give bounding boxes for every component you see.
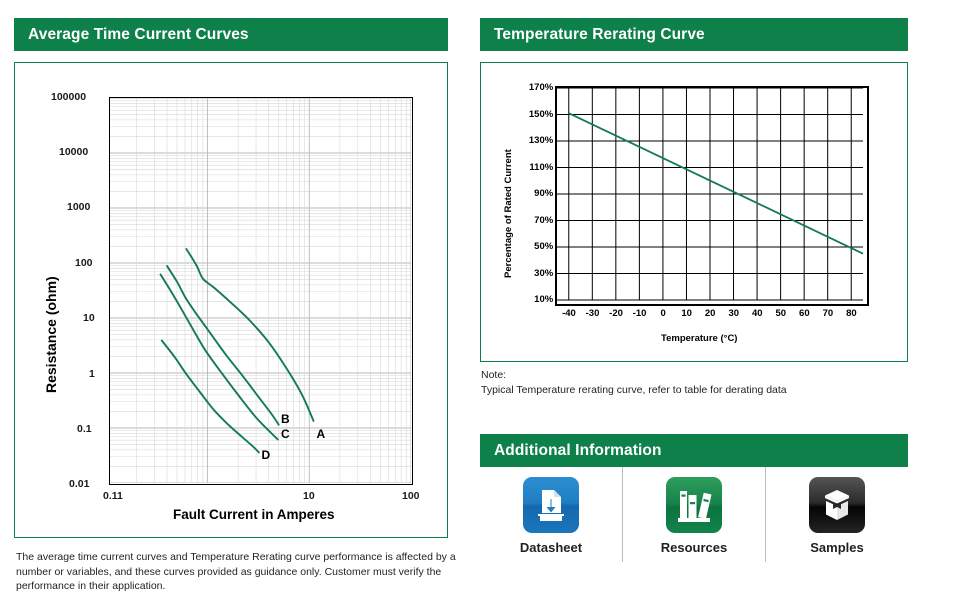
temperature-x-tick-10: 10 bbox=[675, 308, 699, 319]
y-tick-label-1: 1 bbox=[89, 368, 95, 380]
temperature-y-tick-30%: 30% bbox=[521, 268, 553, 279]
note-heading: Note: bbox=[481, 368, 911, 383]
temperature-note: Note: Typical Temperature rerating curve… bbox=[481, 368, 911, 397]
temperature-chart-box: Percentage of Rated Current 10%30%50%70%… bbox=[480, 62, 908, 362]
datasheet-link[interactable]: Datasheet bbox=[480, 467, 622, 562]
temperature-x-tick-0: 0 bbox=[651, 308, 675, 319]
datasheet-page: Average Time Current Curves Resistance (… bbox=[0, 0, 963, 594]
y-tick-label-10: 10 bbox=[83, 312, 95, 324]
time-current-chart-box: Resistance (ohm) 100000 10000 1000 100 1… bbox=[14, 62, 448, 538]
temperature-x-tick--40: -40 bbox=[557, 308, 581, 319]
additional-information-title: Additional Information bbox=[494, 442, 662, 460]
time-current-x-axis-title: Fault Current in Amperes bbox=[173, 507, 335, 522]
temperature-x-tick-30: 30 bbox=[722, 308, 746, 319]
curve-label-b: B bbox=[281, 412, 290, 426]
temperature-x-tick-80: 80 bbox=[839, 308, 863, 319]
resources-label: Resources bbox=[661, 540, 727, 555]
y-tick-label-100000: 100000 bbox=[51, 91, 86, 103]
curve-label-d: D bbox=[262, 448, 271, 462]
time-current-plot-area bbox=[109, 97, 413, 485]
temperature-x-tick-20: 20 bbox=[698, 308, 722, 319]
document-download-icon[interactable] bbox=[523, 477, 579, 533]
open-box-icon[interactable] bbox=[809, 477, 865, 533]
x-tick-label-0.11: 0.11 bbox=[103, 490, 123, 502]
time-current-y-axis-title: Resistance (ohm) bbox=[43, 276, 59, 393]
temperature-x-tick--10: -10 bbox=[628, 308, 652, 319]
additional-information-panel: Additional Information bbox=[480, 434, 908, 467]
temperature-x-axis-title: Temperature (°C) bbox=[661, 333, 737, 344]
disclaimer-text: The average time current curves and Temp… bbox=[16, 550, 456, 594]
temperature-y-tick-130%: 130% bbox=[521, 135, 553, 146]
temperature-x-tick-60: 60 bbox=[792, 308, 816, 319]
resources-link[interactable]: Resources bbox=[622, 467, 765, 562]
time-current-panel: Average Time Current Curves bbox=[14, 18, 448, 51]
temperature-panel-header: Temperature Rerating Curve bbox=[480, 18, 908, 51]
temperature-y-tick-70%: 70% bbox=[521, 215, 553, 226]
temperature-y-tick-150%: 150% bbox=[521, 109, 553, 120]
temperature-y-tick-110%: 110% bbox=[521, 162, 553, 173]
temperature-y-axis-title: Percentage of Rated Current bbox=[503, 149, 514, 278]
samples-label: Samples bbox=[810, 540, 863, 555]
x-tick-label-10: 10 bbox=[303, 490, 315, 502]
temperature-y-tick-50%: 50% bbox=[521, 241, 553, 252]
additional-information-links: Datasheet Resources bbox=[480, 467, 908, 572]
major-grid bbox=[557, 88, 863, 300]
temperature-plot-svg bbox=[557, 88, 867, 304]
datasheet-label: Datasheet bbox=[520, 540, 582, 555]
temperature-plot-area bbox=[555, 86, 869, 306]
temperature-panel-title: Temperature Rerating Curve bbox=[494, 26, 705, 44]
temperature-panel: Temperature Rerating Curve bbox=[480, 18, 908, 51]
y-tick-label-0.01: 0.01 bbox=[69, 478, 89, 490]
temperature-y-tick-10%: 10% bbox=[521, 294, 553, 305]
books-icon[interactable] bbox=[666, 477, 722, 533]
y-tick-label-1000: 1000 bbox=[67, 201, 90, 213]
temperature-x-tick-50: 50 bbox=[769, 308, 793, 319]
time-current-panel-title: Average Time Current Curves bbox=[28, 26, 249, 44]
note-body: Typical Temperature rerating curve, refe… bbox=[481, 383, 911, 398]
curve-label-c: C bbox=[281, 427, 290, 441]
x-tick-label-100: 100 bbox=[402, 490, 420, 502]
temperature-x-tick--30: -30 bbox=[581, 308, 605, 319]
temperature-x-tick-70: 70 bbox=[816, 308, 840, 319]
temperature-x-tick--20: -20 bbox=[604, 308, 628, 319]
temperature-y-tick-170%: 170% bbox=[521, 82, 553, 93]
time-current-plot-svg bbox=[110, 98, 411, 483]
samples-link[interactable]: Samples bbox=[765, 467, 908, 562]
temperature-y-tick-90%: 90% bbox=[521, 188, 553, 199]
y-tick-label-10000: 10000 bbox=[59, 146, 88, 158]
additional-information-header: Additional Information bbox=[480, 434, 908, 467]
derating-line bbox=[569, 113, 863, 253]
log-grid bbox=[110, 98, 411, 483]
y-tick-label-0.1: 0.1 bbox=[77, 423, 92, 435]
y-tick-label-100: 100 bbox=[75, 257, 93, 269]
time-current-panel-header: Average Time Current Curves bbox=[14, 18, 448, 51]
temperature-x-tick-40: 40 bbox=[745, 308, 769, 319]
curve-label-a: A bbox=[317, 427, 326, 441]
